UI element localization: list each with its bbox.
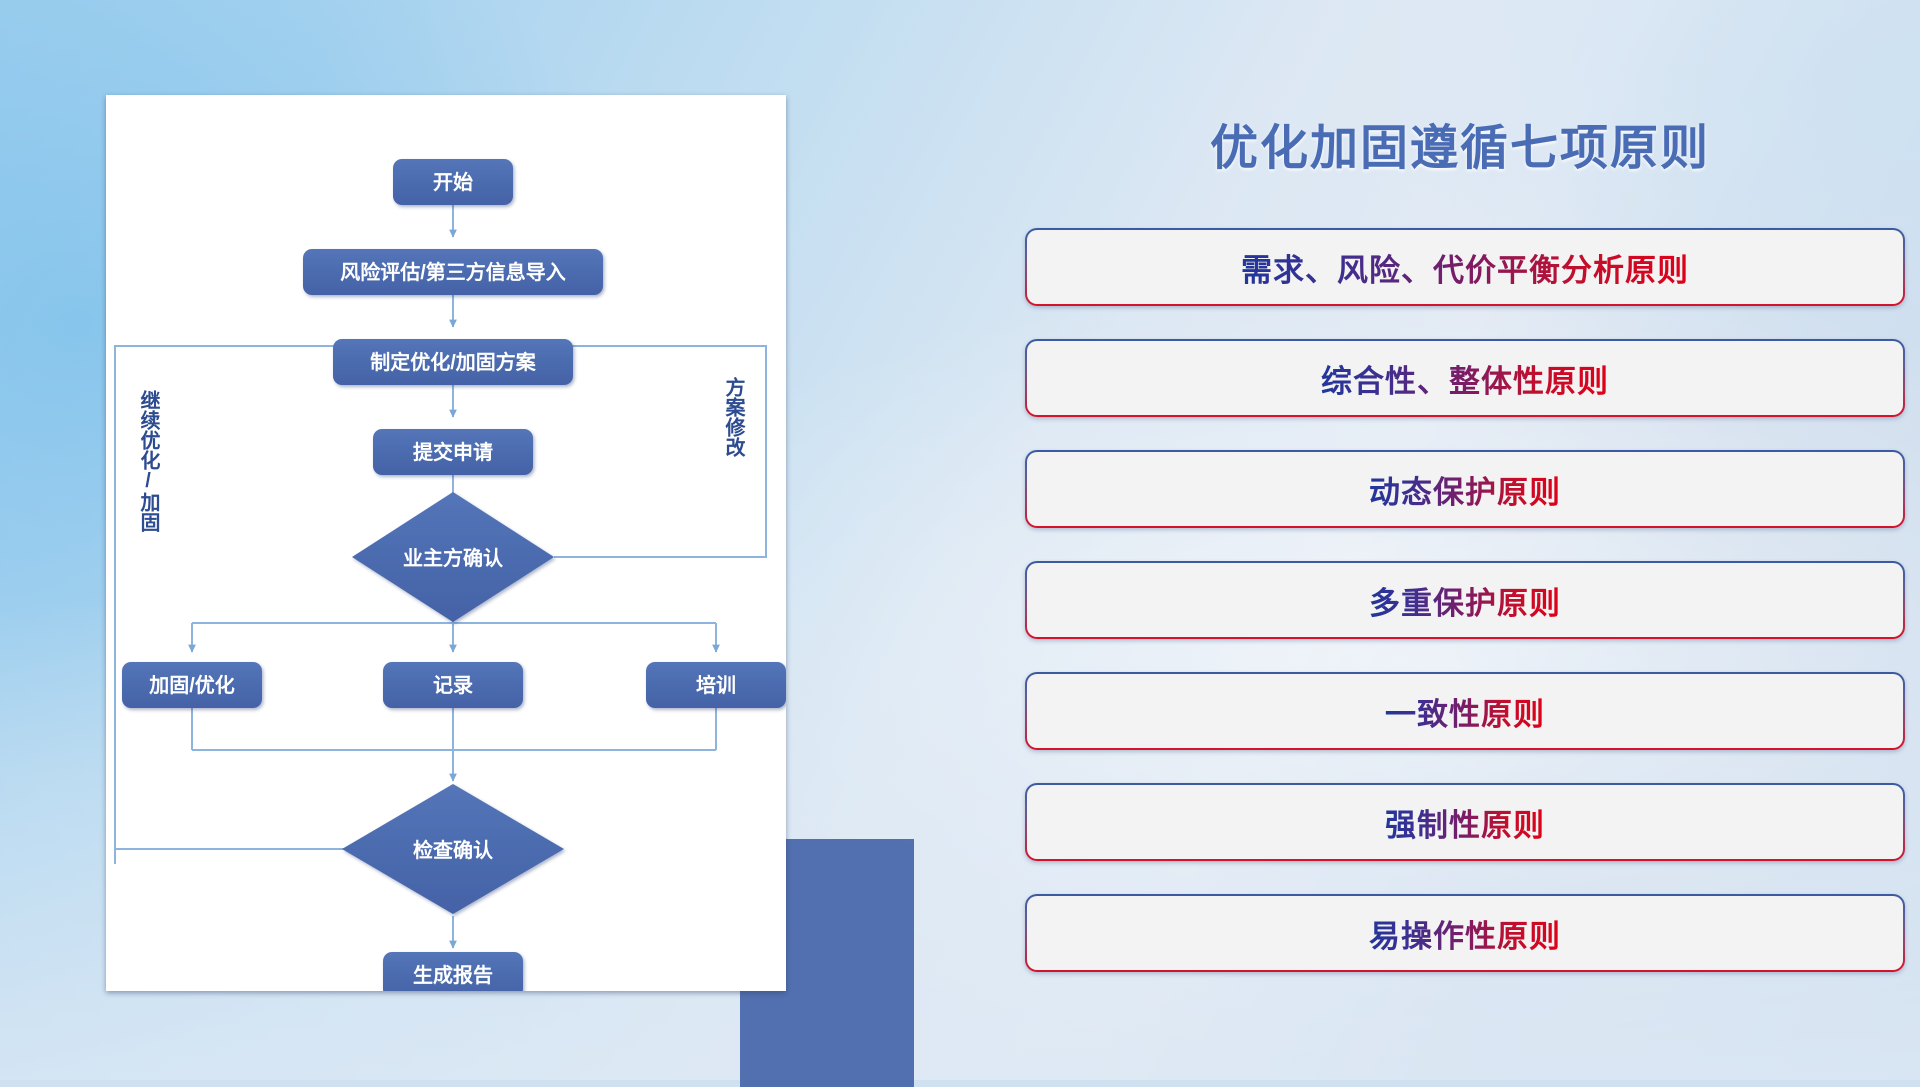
flow-node-train-label: 培训: [696, 673, 736, 697]
principle-card-3[interactable]: 动态保护原则: [1025, 450, 1905, 528]
principle-card-2-label: 综合性、整体性原则: [1321, 356, 1609, 401]
principle-card-1-label: 需求、风险、代价平衡分析原则: [1241, 245, 1689, 290]
flow-edge-label-right-loop: 方案修改: [722, 376, 746, 458]
flow-node-record-label: 记录: [433, 674, 473, 697]
flow-node-report-label: 生成报告: [413, 963, 493, 987]
principle-card-5-inner: 一致性原则: [1027, 674, 1903, 748]
principle-card-4-label: 多重保护原则: [1369, 578, 1561, 623]
principle-card-7-label: 易操作性原则: [1369, 911, 1561, 956]
principles-list: 需求、风险、代价平衡分析原则 综合性、整体性原则 动态保护原则 多重保护原则 一…: [1025, 228, 1905, 1005]
principle-card-5-label: 一致性原则: [1385, 689, 1545, 734]
flowchart-diagram: 开始 风险评估/第三方信息导入 制定优化/加固方案 提交申请 业主方确认 加固/…: [106, 95, 786, 991]
principle-card-6[interactable]: 强制性原则: [1025, 783, 1905, 861]
flowchart-panel: 开始 风险评估/第三方信息导入 制定优化/加固方案 提交申请 业主方确认 加固/…: [106, 95, 786, 995]
flow-node-risk-label: 风险评估/第三方信息导入: [340, 260, 566, 284]
principle-card-2-inner: 综合性、整体性原则: [1027, 341, 1903, 415]
principle-card-3-label: 动态保护原则: [1369, 467, 1561, 512]
flow-node-start-label: 开始: [433, 170, 473, 194]
principle-card-5[interactable]: 一致性原则: [1025, 672, 1905, 750]
flow-node-submit-label: 提交申请: [413, 440, 493, 464]
principle-card-6-label: 强制性原则: [1385, 800, 1545, 845]
principle-card-2[interactable]: 综合性、整体性原则: [1025, 339, 1905, 417]
flow-node-owner-label: 业主方确认: [403, 546, 504, 570]
principle-card-1[interactable]: 需求、风险、代价平衡分析原则: [1025, 228, 1905, 306]
principle-card-4[interactable]: 多重保护原则: [1025, 561, 1905, 639]
principle-card-3-inner: 动态保护原则: [1027, 452, 1903, 526]
flow-node-plan-label: 制定优化/加固方案: [370, 350, 537, 374]
principles-panel: 优化加固遵循七项原则 需求、风险、代价平衡分析原则 综合性、整体性原则 动态保护…: [1000, 0, 1920, 1080]
principle-card-7[interactable]: 易操作性原则: [1025, 894, 1905, 972]
principles-title: 优化加固遵循七项原则: [1000, 108, 1920, 178]
flow-node-check-label: 检查确认: [413, 838, 494, 862]
principle-card-1-inner: 需求、风险、代价平衡分析原则: [1027, 230, 1903, 304]
principle-card-6-inner: 强制性原则: [1027, 785, 1903, 859]
principle-card-4-inner: 多重保护原则: [1027, 563, 1903, 637]
principle-card-7-inner: 易操作性原则: [1027, 896, 1903, 970]
flow-node-reinforce-label: 加固/优化: [148, 673, 235, 697]
flow-edge-label-left-loop: 继续优化/加固: [137, 389, 161, 532]
